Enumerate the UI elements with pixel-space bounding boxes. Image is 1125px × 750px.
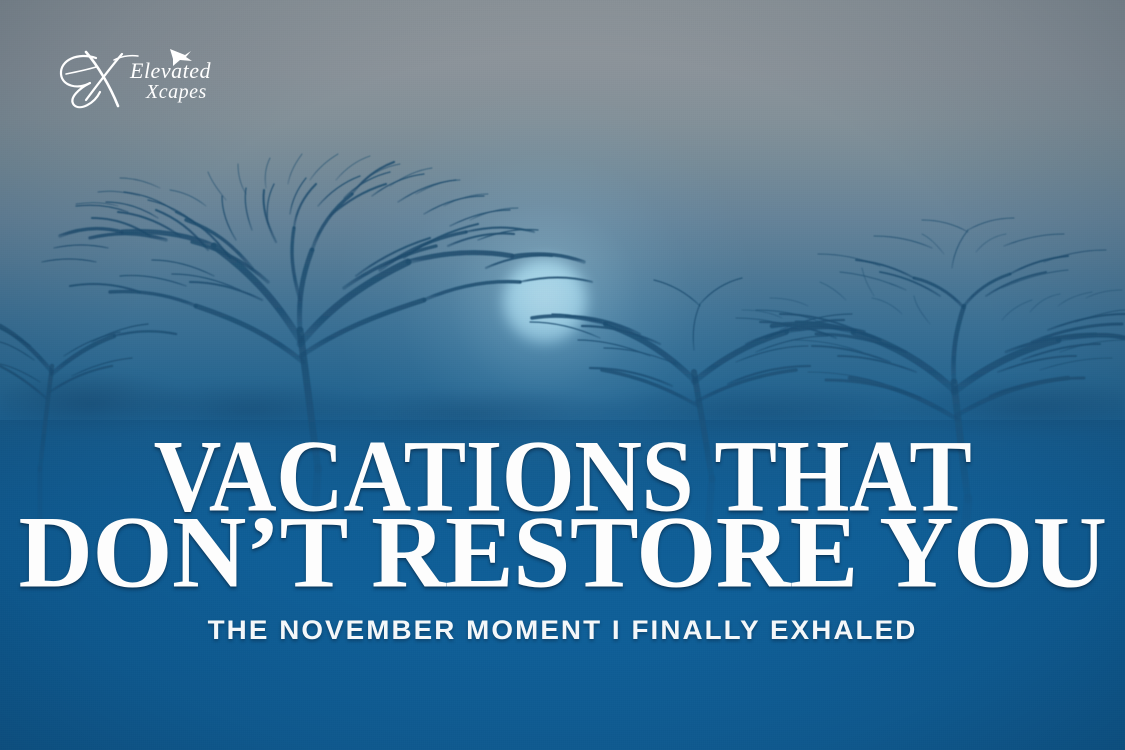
brand-word-top: Elevated (129, 58, 211, 83)
brand-logo[interactable]: Elevated Xcapes (52, 38, 242, 110)
headline-line-2: DON’T RESTORE YOU (0, 511, 1125, 593)
monogram-ex-icon (61, 52, 138, 107)
hero-text-block: VACATIONS THAT DON’T RESTORE YOU THE NOV… (0, 440, 1125, 646)
hero-banner: Elevated Xcapes VACATIONS THAT DON’T RES… (0, 0, 1125, 750)
brand-word-bottom: Xcapes (145, 81, 207, 103)
hero-subtitle: THE NOVEMBER MOMENT I FINALLY EXHALED (0, 615, 1125, 646)
